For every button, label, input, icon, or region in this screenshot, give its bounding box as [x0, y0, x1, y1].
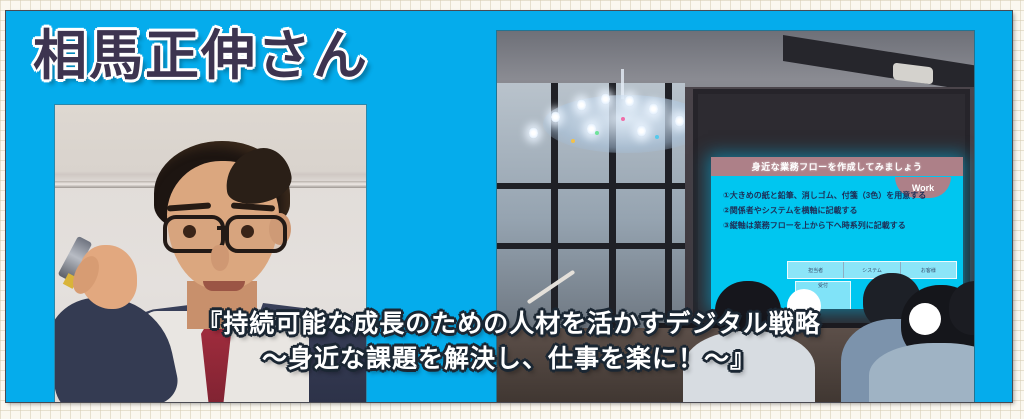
- page-background: 相馬正伸さん: [0, 0, 1024, 419]
- speaker-glasses: [163, 215, 287, 247]
- slide-bullet-item: ①大きめの紙と鉛筆、消しゴム、付箋（3色）を用意する: [723, 189, 955, 204]
- window-mullion: [497, 183, 685, 189]
- speaker-eye-right: [241, 225, 254, 238]
- caption-line-1: 『持続可能な成長のための人材を活かすデジタル戦略: [197, 310, 821, 338]
- window-mullion: [497, 243, 685, 249]
- slide-bullet-item: ②関係者やシステムを横軸に記載する: [723, 204, 955, 219]
- speaker-nose: [211, 245, 229, 271]
- speaker-mouth: [203, 281, 245, 291]
- slide-table: 担当者 システム お客様: [787, 261, 957, 279]
- subtitle-caption: 『持続可能な成長のための人材を活かすデジタル戦略 ～身近な課題を解決し、仕事を楽…: [6, 307, 1012, 377]
- slide-bullet-item: ③縦軸は業務フローを上から下へ時系列に記載する: [723, 219, 955, 234]
- slide-table-header-cell: 担当者: [788, 262, 844, 278]
- slide-bullet-list: ①大きめの紙と鉛筆、消しゴム、付箋（3色）を用意する ②関係者やシステムを横軸に…: [723, 189, 955, 233]
- speaker-eye-left: [183, 225, 196, 238]
- caption-line-2: ～身近な課題を解決し、仕事を楽に！～』: [6, 342, 1012, 377]
- page-title: 相馬正伸さん: [33, 29, 369, 83]
- banner-panel: 相馬正伸さん: [6, 11, 1012, 402]
- slide-title: 身近な業務フローを作成してみましょう: [711, 157, 963, 176]
- slide-table-header-cell: お客様: [901, 262, 956, 278]
